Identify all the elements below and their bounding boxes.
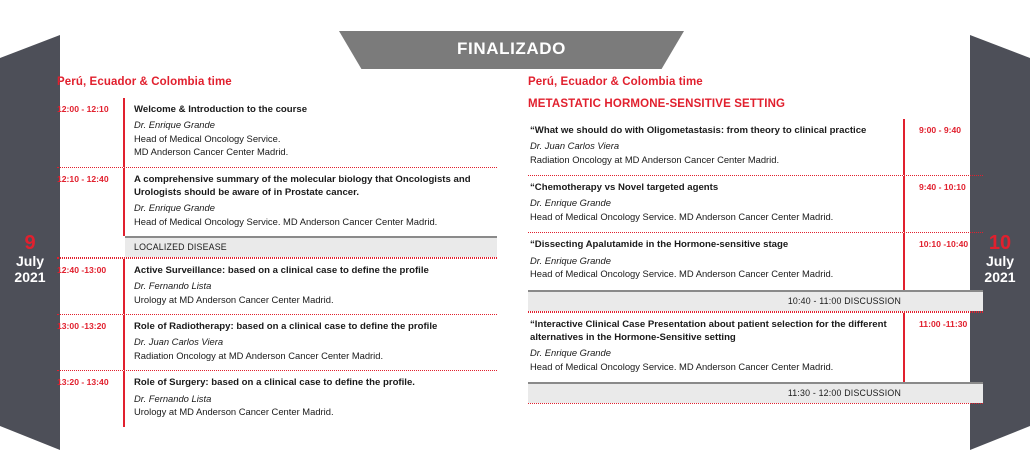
session-speaker: Dr. Fernando Lista [134, 279, 497, 293]
agenda-row: 13:20 - 13:40Role of Surgery: based on a… [57, 370, 497, 426]
agenda-row: “Interactive Clinical Case Presentation … [528, 312, 983, 382]
session-title: Welcome & Introduction to the course [134, 103, 497, 116]
session-affiliation: Head of Medical Oncology Service. MD And… [530, 210, 893, 223]
session-body: “Interactive Clinical Case Presentation … [528, 313, 903, 382]
session-body: A comprehensive summary of the molecular… [125, 168, 497, 236]
session-affiliation: Head of Medical Oncology Service. MD And… [530, 360, 893, 373]
agenda-row: 12:00 - 12:10Welcome & Introduction to t… [57, 98, 497, 167]
discussion-band: 11:30 - 12:00 DISCUSSION [528, 382, 983, 403]
agenda-column-day2: Perú, Ecuador & Colombia time METASTATIC… [528, 76, 983, 404]
session-speaker: Dr. Fernando Lista [134, 392, 497, 406]
session-time: 12:40 -13:00 [57, 259, 123, 314]
agenda-rows-left: 12:00 - 12:10Welcome & Introduction to t… [57, 98, 497, 427]
session-body: Active Surveillance: based on a clinical… [125, 259, 497, 314]
discussion-band: 10:40 - 11:00 DISCUSSION [528, 290, 983, 311]
agenda-row: 12:10 - 12:40A comprehensive summary of … [57, 167, 497, 236]
date-badge-left: 9 July 2021 [0, 0, 60, 450]
date-day-left: 9 [0, 232, 60, 254]
session-speaker: Dr. Enrique Grande [530, 346, 893, 360]
agenda-band: 10:40 - 11:00 DISCUSSION [528, 290, 983, 312]
date-month-left: July [0, 254, 60, 270]
agenda-band: 11:30 - 12:00 DISCUSSION [528, 382, 983, 404]
section-title-metastatic: METASTATIC HORMONE-SENSITIVE SETTING [528, 98, 983, 110]
agenda-rows-right: “What we should do with Oligometastasis:… [528, 119, 983, 404]
session-affiliation: MD Anderson Cancer Center Madrid. [134, 145, 497, 158]
agenda-poster: 9 July 2021 10 July 2021 FINALIZADO Perú… [0, 0, 1030, 450]
session-title: Role of Radiotherapy: based on a clinica… [134, 320, 497, 333]
agenda-row: 12:40 -13:00Active Surveillance: based o… [57, 258, 497, 314]
session-speaker: Dr. Enrique Grande [530, 196, 893, 210]
session-affiliation: Radiation Oncology at MD Anderson Cancer… [134, 349, 497, 362]
session-body: Welcome & Introduction to the courseDr. … [125, 98, 497, 167]
agenda-column-day1: Perú, Ecuador & Colombia time 12:00 - 12… [57, 76, 497, 427]
session-affiliation: Head of Medical Oncology Service. MD And… [530, 267, 893, 280]
session-time: 13:00 -13:20 [57, 315, 123, 370]
session-body: Role of Radiotherapy: based on a clinica… [125, 315, 497, 370]
session-time: 11:00 -11:30 [905, 313, 983, 382]
row-separator [528, 403, 983, 404]
session-affiliation: Urology at MD Anderson Cancer Center Mad… [134, 293, 497, 306]
agenda-row: “Chemotherapy vs Novel targeted agentsDr… [528, 175, 983, 232]
timezone-label-right: Perú, Ecuador & Colombia time [528, 76, 983, 88]
session-affiliation: Urology at MD Anderson Cancer Center Mad… [134, 405, 497, 418]
session-title: “Dissecting Apalutamide in the Hormone-s… [530, 238, 893, 251]
session-affiliation: Head of Medical Oncology Service. [134, 132, 497, 145]
agenda-band: LOCALIZED DISEASE [57, 236, 497, 258]
agenda-row: “Dissecting Apalutamide in the Hormone-s… [528, 232, 983, 289]
session-time: 9:00 - 9:40 [905, 119, 983, 175]
session-time: 12:00 - 12:10 [57, 98, 123, 167]
session-title: Active Surveillance: based on a clinical… [134, 264, 497, 277]
session-time: 10:10 -10:40 [905, 233, 983, 289]
band-indent: LOCALIZED DISEASE [57, 236, 497, 257]
status-badge: FINALIZADO [339, 31, 684, 69]
session-speaker: Dr. Enrique Grande [530, 254, 893, 268]
session-affiliation: Radiation Oncology at MD Anderson Cancer… [530, 153, 893, 166]
section-header-band: LOCALIZED DISEASE [125, 236, 497, 257]
agenda-row: 13:00 -13:20Role of Radiotherapy: based … [57, 314, 497, 370]
timezone-label-left: Perú, Ecuador & Colombia time [57, 76, 497, 88]
date-text-left: 9 July 2021 [0, 232, 60, 286]
session-affiliation: Head of Medical Oncology Service. MD And… [134, 215, 497, 228]
session-title: “What we should do with Oligometastasis:… [530, 124, 893, 137]
session-title: “Chemotherapy vs Novel targeted agents [530, 181, 893, 194]
agenda-row: “What we should do with Oligometastasis:… [528, 119, 983, 175]
session-body: “Dissecting Apalutamide in the Hormone-s… [528, 233, 903, 289]
session-body: “What we should do with Oligometastasis:… [528, 119, 903, 175]
session-speaker: Dr. Juan Carlos Viera [134, 335, 497, 349]
session-title: “Interactive Clinical Case Presentation … [530, 318, 893, 344]
session-time: 13:20 - 13:40 [57, 371, 123, 426]
session-speaker: Dr. Enrique Grande [134, 201, 497, 215]
session-title: A comprehensive summary of the molecular… [134, 173, 497, 199]
session-body: “Chemotherapy vs Novel targeted agentsDr… [528, 176, 903, 232]
slab-shape-left [0, 0, 60, 450]
session-time: 12:10 - 12:40 [57, 168, 123, 236]
status-banner: FINALIZADO [339, 31, 684, 69]
session-title: Role of Surgery: based on a clinical cas… [134, 376, 497, 389]
session-body: Role of Surgery: based on a clinical cas… [125, 371, 497, 426]
session-speaker: Dr. Juan Carlos Viera [530, 139, 893, 153]
session-time: 9:40 - 10:10 [905, 176, 983, 232]
date-year-left: 2021 [0, 270, 60, 286]
session-speaker: Dr. Enrique Grande [134, 118, 497, 132]
